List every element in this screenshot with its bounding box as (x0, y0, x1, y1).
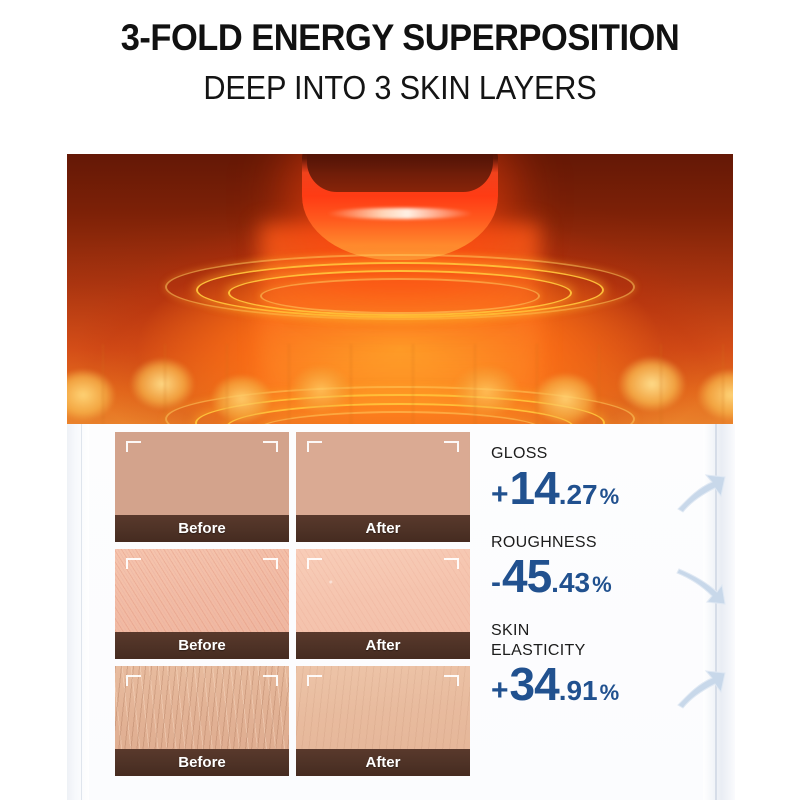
skin-cell-grid (67, 344, 733, 424)
product-infographic-page: 3-FOLD ENERGY SUPERPOSITION DEEP INTO 3 … (0, 0, 800, 800)
corner-bracket-icon (307, 558, 322, 569)
metric-percent: % (600, 682, 620, 704)
tile-caption-after: After (296, 515, 470, 542)
metric-integer: 14 (510, 465, 559, 511)
tile-caption-before: Before (115, 749, 289, 776)
corner-bracket-icon (307, 675, 322, 686)
corner-bracket-icon (263, 441, 278, 452)
metric-percent: % (600, 486, 620, 508)
metric-roughness: ROUGHNESS - 45 .43 % (491, 533, 706, 600)
before-after-rows: Before After Before (115, 432, 527, 783)
corner-bracket-icon (444, 675, 459, 686)
corner-bracket-icon (126, 675, 141, 686)
corner-bracket-icon (126, 558, 141, 569)
panel-right-edge (703, 424, 735, 800)
results-panel: Before After Before (67, 424, 735, 800)
tile-caption-after: After (296, 749, 470, 776)
device-housing (307, 154, 493, 192)
metric-sign: + (491, 480, 509, 510)
before-tile-elasticity[interactable]: Before (115, 666, 289, 776)
comparison-row-gloss: Before After (115, 432, 527, 542)
metric-sign: + (491, 676, 509, 706)
corner-bracket-icon (263, 675, 278, 686)
device-highlight (327, 208, 473, 219)
page-title: 3-FOLD ENERGY SUPERPOSITION (28, 18, 772, 59)
metric-value-gloss: + 14 .27 % (491, 465, 706, 511)
metric-percent: % (592, 574, 612, 596)
metric-decimal: .91 (559, 677, 598, 705)
corner-bracket-icon (126, 441, 141, 452)
tile-caption-before: Before (115, 632, 289, 659)
corner-bracket-icon (444, 441, 459, 452)
metric-label-gloss: GLOSS (491, 444, 706, 464)
metric-integer: 45 (502, 553, 551, 599)
metric-integer: 34 (510, 661, 559, 707)
metric-decimal: .43 (551, 569, 590, 597)
tile-caption-after: After (296, 632, 470, 659)
metric-sign: - (491, 568, 501, 598)
hero-image (67, 154, 733, 424)
comparison-row-elasticity: Before After (115, 666, 527, 776)
headline-block: 3-FOLD ENERGY SUPERPOSITION DEEP INTO 3 … (0, 18, 800, 107)
corner-bracket-icon (263, 558, 278, 569)
metrics-column: GLOSS + 14 .27 % ROUGHNESS - 45 .43 % (491, 444, 706, 729)
metric-decimal: .27 (559, 481, 598, 509)
after-tile-gloss[interactable]: After (296, 432, 470, 542)
after-tile-roughness[interactable]: After (296, 549, 470, 659)
metric-value-roughness: - 45 .43 % (491, 553, 706, 599)
metric-skin-elasticity: SKIN ELASTICITY + 34 .91 % (491, 621, 706, 707)
metric-label-elasticity-line1: SKIN (491, 621, 706, 641)
panel-left-edge (67, 424, 89, 800)
before-tile-gloss[interactable]: Before (115, 432, 289, 542)
corner-bracket-icon (307, 441, 322, 452)
energy-ring-lower-core (260, 278, 540, 314)
page-subtitle: DEEP INTO 3 SKIN LAYERS (28, 69, 772, 107)
after-tile-elasticity[interactable]: After (296, 666, 470, 776)
metric-gloss: GLOSS + 14 .27 % (491, 444, 706, 511)
metric-value-elasticity: + 34 .91 % (491, 661, 706, 707)
corner-bracket-icon (444, 558, 459, 569)
before-tile-roughness[interactable]: Before (115, 549, 289, 659)
tile-caption-before: Before (115, 515, 289, 542)
comparison-row-roughness: Before After (115, 549, 527, 659)
